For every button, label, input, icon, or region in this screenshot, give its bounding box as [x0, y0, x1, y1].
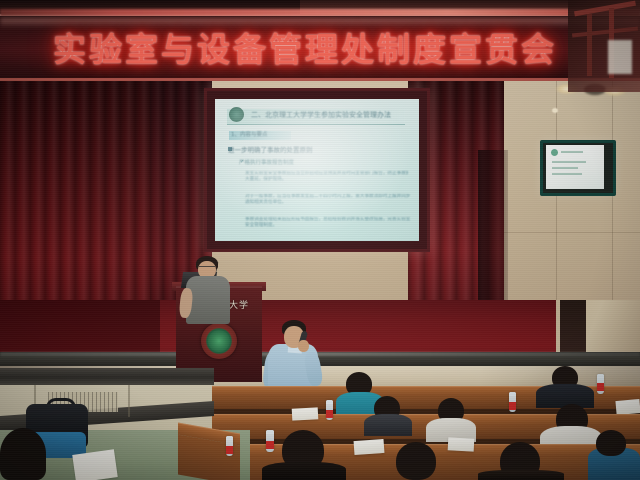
monitor-logo-icon	[551, 149, 558, 156]
bottle-label	[226, 446, 233, 454]
ceiling-spot-small	[552, 108, 558, 113]
water-bottle	[326, 400, 333, 420]
water-bottle	[226, 436, 233, 456]
lecture-hall-photo: 二、北京理工大学学生参加实验安全管理办法 1、内容与要点 进一步明确了事故的处置…	[0, 0, 640, 480]
paper-sheet	[292, 407, 319, 420]
paper-sheet	[448, 437, 475, 451]
truss-bar	[574, 1, 636, 17]
bottle-label	[509, 402, 516, 410]
wall-seam-horizontal	[492, 232, 640, 233]
monitor-text-line	[552, 161, 586, 163]
tile-wall-dark-band	[0, 368, 214, 385]
projection-screen: 二、北京理工大学学生参加实验安全管理办法 1、内容与要点 进一步明确了事故的处置…	[215, 99, 419, 241]
wall-monitor-screen	[546, 145, 604, 189]
projector-light-wash	[215, 99, 419, 241]
monitor-text-line	[552, 173, 582, 175]
bottle-cap	[326, 400, 333, 404]
projection-screen-frame: 二、北京理工大学学生参加实验安全管理办法 1、内容与要点 进一步明确了事故的处置…	[204, 88, 430, 252]
water-bottle	[597, 374, 604, 394]
audience-shoulders	[478, 470, 564, 480]
bottle-label	[326, 410, 333, 418]
bottle-cap	[597, 374, 604, 378]
bottle-cap	[509, 392, 516, 396]
podium-operator-glasses-icon	[199, 266, 215, 271]
paper-sheet	[354, 439, 385, 455]
audience-head	[0, 428, 46, 480]
ceiling-light-strip	[0, 9, 640, 16]
bottle-cap	[226, 436, 233, 440]
led-banner-text: 实验室与设备管理处制度宣贯会	[0, 22, 610, 72]
truss-bar	[572, 27, 638, 38]
water-bottle	[266, 430, 274, 452]
truss-bar	[587, 14, 592, 76]
bottle-label	[266, 441, 274, 449]
audience-head	[596, 430, 626, 456]
audience-head	[396, 442, 436, 480]
wall-monitor	[540, 140, 616, 196]
monitor-text-line	[561, 151, 583, 153]
paper-sheet	[615, 399, 640, 415]
audience-shoulders	[262, 462, 346, 480]
speaker-hand	[298, 340, 309, 352]
stage-edge-highlight	[0, 352, 640, 356]
audience-shoulders	[364, 414, 412, 436]
tile-seam	[128, 385, 130, 417]
lighting-truss	[568, 0, 640, 92]
paper-sheet	[72, 449, 117, 480]
monitor-text-line	[552, 167, 578, 169]
bottle-cap	[266, 430, 274, 434]
podium-emblem-inner-icon	[208, 330, 230, 352]
stage-lamp	[608, 40, 632, 74]
bottle-label	[597, 383, 604, 391]
podium-operator-body	[186, 276, 230, 324]
water-bottle	[509, 392, 516, 412]
led-banner: 实验室与设备管理处制度宣贯会	[0, 16, 640, 81]
